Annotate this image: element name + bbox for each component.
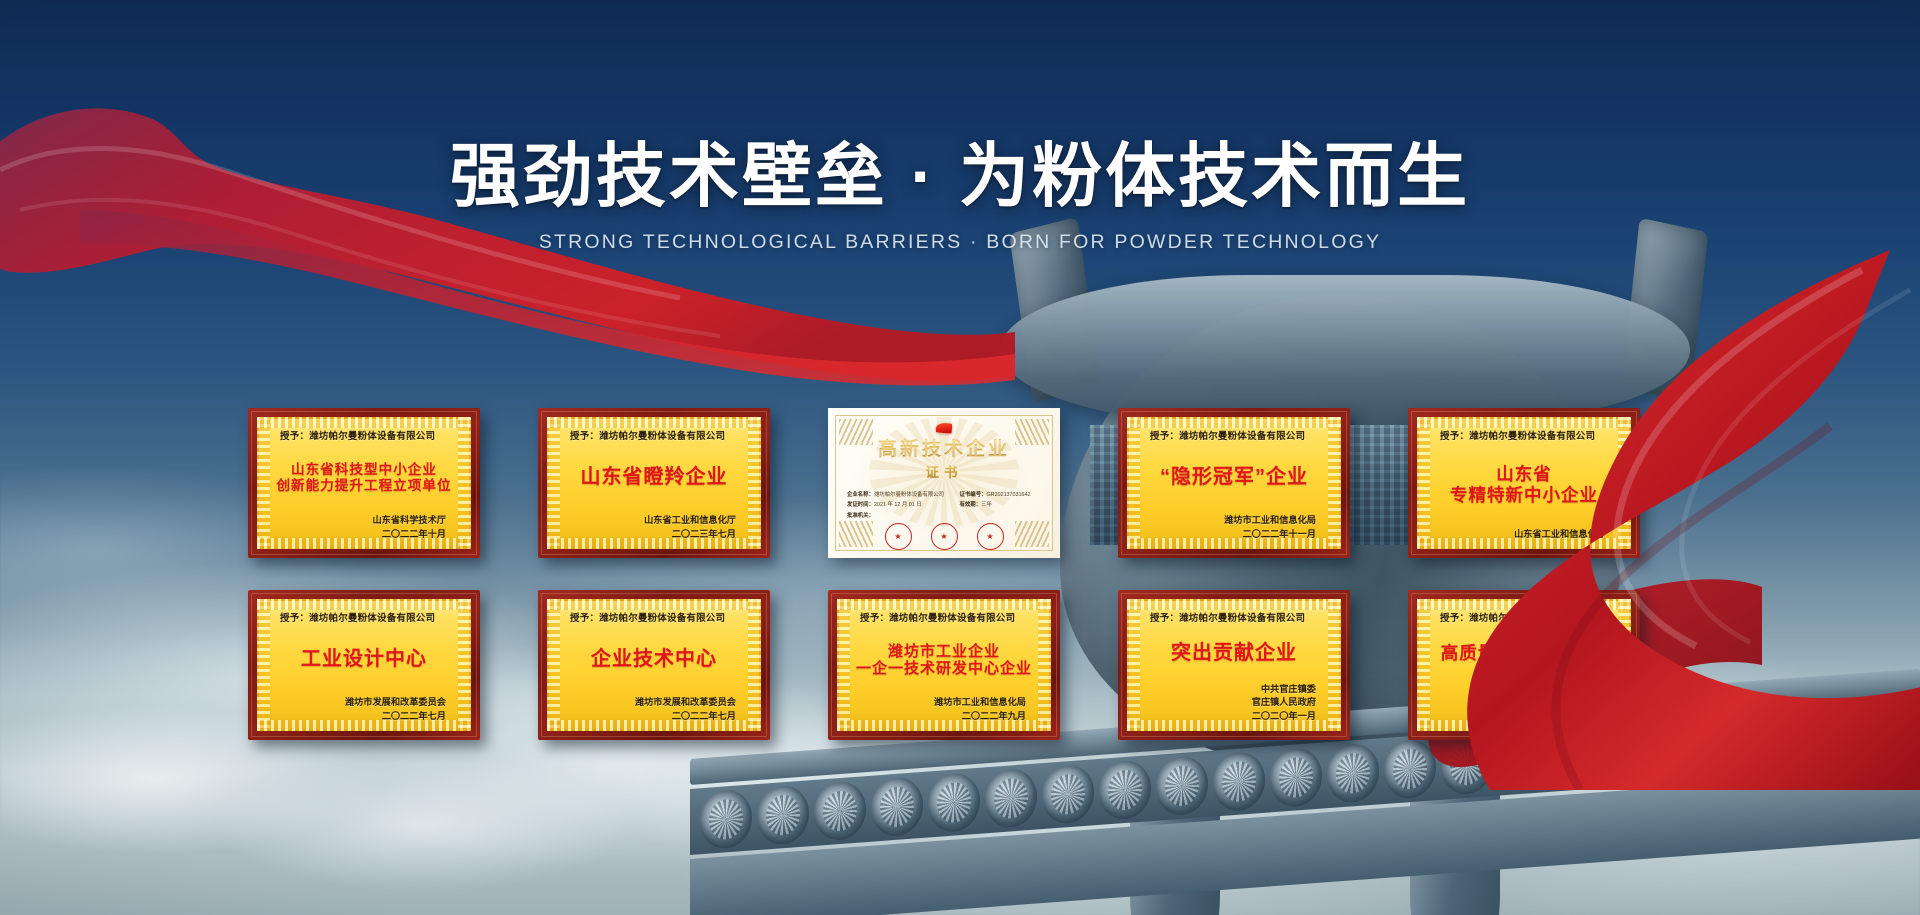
- wheat-corner-icon: [1015, 419, 1049, 445]
- award-plaque[interactable]: 授予：潍坊帕尔曼粉体设备有限公司 企业技术中心 潍坊市发展和改革委员会 二〇二二…: [538, 590, 770, 740]
- award-issuer: 山东省科学技术厅 二〇二二年十月: [268, 514, 460, 542]
- award-title: 山东省瞪羚企业: [558, 442, 750, 514]
- pleat-top: [547, 599, 761, 610]
- award-issuer: 中共官庄镇委 官庄镇人民政府 二〇二〇年一月: [1138, 683, 1330, 724]
- award-cell[interactable]: 授予：潍坊帕尔曼粉体设备有限公司 山东省科技型中小企业 创新能力提升工程立项单位…: [248, 408, 480, 558]
- certificate-title: 高新技术企业: [878, 434, 1010, 461]
- award-title: 高质量发展优秀企业: [1428, 624, 1620, 683]
- plinth-medallion-icon: [871, 776, 923, 838]
- field-value: 2021 年 12 月 01 日: [874, 502, 922, 508]
- field-label: 发证时间：: [847, 502, 874, 508]
- plinth-medallion-icon: [1042, 763, 1094, 825]
- award-plaque[interactable]: 授予：潍坊帕尔曼粉体设备有限公司 山东省 专精特新中小企业 山东省工业和信息化厅: [1408, 408, 1640, 558]
- plinth-medallion-icon: [985, 768, 1037, 830]
- ding-rim: [1000, 275, 1690, 425]
- issuer-date: 二〇二三年七月: [558, 528, 736, 542]
- award-title: 潍坊市工业企业 一企一技术研发中心企业: [848, 624, 1040, 696]
- award-title: 工业设计中心: [268, 624, 460, 696]
- award-issuer: 新安街道党工委 新安街道办事处 二〇二三年二月: [1428, 683, 1620, 724]
- award-cell[interactable]: 授予：潍坊帕尔曼粉体设备有限公司 企业技术中心 潍坊市发展和改革委员会 二〇二二…: [538, 590, 770, 740]
- pleat-top: [1127, 417, 1341, 428]
- page-subtitle: STRONG TECHNOLOGICAL BARRIERS · BORN FOR…: [0, 231, 1920, 254]
- award-recipient: 授予：潍坊帕尔曼粉体设备有限公司: [1440, 610, 1620, 624]
- issuer-line: 潍坊市工业和信息化局: [848, 696, 1026, 710]
- page-title: 强劲技术壁垒 · 为粉体技术而生: [0, 138, 1920, 215]
- award-title-line: 突出贡献企业: [1171, 642, 1297, 666]
- award-title-line: “隐形冠军”企业: [1160, 466, 1308, 490]
- award-cell[interactable]: 授予：潍坊帕尔曼粉体设备有限公司 突出贡献企业 中共官庄镇委 官庄镇人民政府 二…: [1118, 590, 1350, 740]
- award-issuer: 潍坊市工业和信息化局 二〇二二年十一月: [1138, 514, 1330, 542]
- flame-icon: [936, 422, 953, 434]
- award-title-line: 山东省瞪羚企业: [581, 466, 728, 490]
- plinth-medallion-icon: [1327, 742, 1379, 804]
- award-recipient: 授予：潍坊帕尔曼粉体设备有限公司: [1150, 428, 1330, 442]
- plinth-medallion-icon: [1726, 713, 1778, 775]
- award-plaque[interactable]: 授予：潍坊帕尔曼粉体设备有限公司 高质量发展优秀企业 新安街道党工委 新安街道办…: [1408, 590, 1640, 740]
- issuer-date: 二〇二二年十月: [268, 528, 446, 542]
- pleat-top: [257, 599, 471, 610]
- award-plaque[interactable]: 授予：潍坊帕尔曼粉体设备有限公司 潍坊市工业企业 一企一技术研发中心企业 潍坊市…: [828, 590, 1060, 740]
- certificate-subtitle: 证书: [926, 461, 963, 481]
- award-plaque[interactable]: 授予：潍坊帕尔曼粉体设备有限公司 山东省科技型中小企业 创新能力提升工程立项单位…: [248, 408, 480, 558]
- award-recipient: 授予：潍坊帕尔曼粉体设备有限公司: [280, 610, 460, 624]
- plinth-medallion-icon: [1783, 709, 1835, 771]
- award-issuer: 潍坊市发展和改革委员会 二〇二二年七月: [268, 696, 460, 724]
- field-label: 企业名称：: [847, 492, 874, 498]
- issuer-date: 二〇二二年七月: [268, 710, 446, 724]
- issuer-line: 潍坊市发展和改革委员会: [558, 696, 736, 710]
- award-issuer: 山东省工业和信息化厅: [1428, 528, 1620, 542]
- award-recipient: 授予：潍坊帕尔曼粉体设备有限公司: [570, 428, 750, 442]
- plinth-medallion-icon: [1099, 759, 1151, 821]
- award-title-line: 山东省科技型中小企业: [291, 462, 437, 478]
- award-title-line: 企业技术中心: [591, 648, 717, 672]
- issuer-line: 新安街道办事处: [1428, 696, 1606, 710]
- pleat-top: [1417, 599, 1631, 610]
- field-value: GR202137031642: [986, 492, 1030, 498]
- award-cell-certificate[interactable]: 高新技术企业 证书 企业名称：潍坊帕尔曼粉体设备有限公司 证书编号：GR2021…: [828, 408, 1060, 558]
- seal-icon: [885, 523, 912, 550]
- certificate-field: 批准机关：: [847, 511, 960, 521]
- plinth-medallion-icon: [1270, 747, 1322, 809]
- award-recipient: 授予：潍坊帕尔曼粉体设备有限公司: [1150, 610, 1330, 624]
- certificate-field: 证书编号：GR202137031642: [960, 490, 1041, 500]
- award-recipient: 授予：潍坊帕尔曼粉体设备有限公司: [860, 610, 1040, 624]
- pleat-top: [837, 599, 1051, 610]
- award-cell[interactable]: 授予：潍坊帕尔曼粉体设备有限公司 “隐形冠军”企业 潍坊市工业和信息化局 二〇二…: [1118, 408, 1350, 558]
- award-issuer: 山东省工业和信息化厅 二〇二三年七月: [558, 514, 750, 542]
- plaque-gold-face: 授予：潍坊帕尔曼粉体设备有限公司 山东省科技型中小企业 创新能力提升工程立项单位…: [257, 417, 471, 549]
- plinth-medallion-icon: [1213, 751, 1265, 813]
- pleat-top: [257, 417, 471, 428]
- plaque-gold-face: 授予：潍坊帕尔曼粉体设备有限公司 工业设计中心 潍坊市发展和改革委员会 二〇二二…: [257, 599, 471, 731]
- award-cell[interactable]: 授予：潍坊帕尔曼粉体设备有限公司 高质量发展优秀企业 新安街道党工委 新安街道办…: [1408, 590, 1640, 740]
- award-title-line: 高质量发展优秀企业: [1441, 643, 1608, 664]
- certificate-field: 企业名称：潍坊帕尔曼粉体设备有限公司: [847, 490, 960, 500]
- field-label: 批准机关：: [847, 513, 874, 519]
- award-title: 突出贡献企业: [1138, 624, 1330, 683]
- plaque-gold-face: 授予：潍坊帕尔曼粉体设备有限公司 山东省瞪羚企业 山东省工业和信息化厅 二〇二三…: [547, 417, 761, 549]
- seal-icon: [931, 523, 958, 550]
- field-label: 证书编号：: [960, 492, 987, 498]
- plaque-gold-face: 授予：潍坊帕尔曼粉体设备有限公司 “隐形冠军”企业 潍坊市工业和信息化局 二〇二…: [1127, 417, 1341, 549]
- award-title-line: 工业设计中心: [301, 648, 427, 672]
- certificate-field: 有效期：三年: [960, 500, 1041, 510]
- plaque-gold-face: 授予：潍坊帕尔曼粉体设备有限公司 山东省 专精特新中小企业 山东省工业和信息化厅: [1417, 417, 1631, 549]
- issuer-line: 潍坊市工业和信息化局: [1138, 514, 1316, 528]
- award-issuer: 潍坊市工业和信息化局 二〇二二年九月: [848, 696, 1040, 724]
- award-title-line: 创新能力提升工程立项单位: [276, 478, 451, 494]
- issuer-line: 山东省工业和信息化厅: [1428, 528, 1606, 542]
- award-cell[interactable]: 授予：潍坊帕尔曼粉体设备有限公司 潍坊市工业企业 一企一技术研发中心企业 潍坊市…: [828, 590, 1060, 740]
- award-recipient: 授予：潍坊帕尔曼粉体设备有限公司: [280, 428, 460, 442]
- plinth-medallion-icon: [928, 772, 980, 834]
- plinth-medallion-icon: [1156, 755, 1208, 817]
- issuer-line: 新安街道党工委: [1428, 683, 1606, 697]
- award-cell[interactable]: 授予：潍坊帕尔曼粉体设备有限公司 山东省 专精特新中小企业 山东省工业和信息化厅: [1408, 408, 1640, 558]
- plaque-gold-face: 授予：潍坊帕尔曼粉体设备有限公司 企业技术中心 潍坊市发展和改革委员会 二〇二二…: [547, 599, 761, 731]
- award-plaque[interactable]: 授予：潍坊帕尔曼粉体设备有限公司 工业设计中心 潍坊市发展和改革委员会 二〇二二…: [248, 590, 480, 740]
- plinth-medallion-icon: [1384, 738, 1436, 800]
- award-plaque[interactable]: 授予：潍坊帕尔曼粉体设备有限公司 突出贡献企业 中共官庄镇委 官庄镇人民政府 二…: [1118, 590, 1350, 740]
- issuer-line: 山东省工业和信息化厅: [558, 514, 736, 528]
- pleat-top: [547, 417, 761, 428]
- award-title-line: 一企一技术研发中心企业: [856, 660, 1032, 678]
- issuer-line: 山东省科学技术厅: [268, 514, 446, 528]
- award-recipient: 授予：潍坊帕尔曼粉体设备有限公司: [570, 610, 750, 624]
- field-value: 潍坊帕尔曼粉体设备有限公司: [874, 492, 944, 498]
- award-issuer: 潍坊市发展和改革委员会 二〇二二年七月: [558, 696, 750, 724]
- field-value: 三年: [981, 502, 992, 508]
- award-plaque[interactable]: 授予：潍坊帕尔曼粉体设备有限公司 山东省瞪羚企业 山东省工业和信息化厅 二〇二三…: [538, 408, 770, 558]
- plinth-medallion-icon: [700, 788, 752, 850]
- award-plaque[interactable]: 授予：潍坊帕尔曼粉体设备有限公司 “隐形冠军”企业 潍坊市工业和信息化局 二〇二…: [1118, 408, 1350, 558]
- award-recipient: 授予：潍坊帕尔曼粉体设备有限公司: [1440, 428, 1620, 442]
- issuer-date: 二〇二二年十一月: [1138, 528, 1316, 542]
- issuer-date: 二〇二〇年一月: [1138, 710, 1316, 724]
- field-label: 有效期：: [960, 502, 982, 508]
- heading-block: 强劲技术壁垒 · 为粉体技术而生 STRONG TECHNOLOGICAL BA…: [0, 138, 1920, 254]
- issuer-line: 潍坊市发展和改革委员会: [268, 696, 446, 710]
- award-cell[interactable]: 授予：潍坊帕尔曼粉体设备有限公司 山东省瞪羚企业 山东省工业和信息化厅 二〇二三…: [538, 408, 770, 558]
- issuer-date: 二〇二三年二月: [1428, 710, 1606, 724]
- award-grid: 授予：潍坊帕尔曼粉体设备有限公司 山东省科技型中小企业 创新能力提升工程立项单位…: [248, 408, 1688, 740]
- award-cell[interactable]: 授予：潍坊帕尔曼粉体设备有限公司 工业设计中心 潍坊市发展和改革委员会 二〇二二…: [248, 590, 480, 740]
- plaque-gold-face: 授予：潍坊帕尔曼粉体设备有限公司 突出贡献企业 中共官庄镇委 官庄镇人民政府 二…: [1127, 599, 1341, 731]
- award-title-line: 专精特新中小企业: [1450, 485, 1598, 506]
- certificate-inner: 高新技术企业 证书 企业名称：潍坊帕尔曼粉体设备有限公司 证书编号：GR2021…: [835, 415, 1053, 551]
- plinth-medallion-icon: [814, 780, 866, 842]
- award-title: 企业技术中心: [558, 624, 750, 696]
- award-title: 山东省 专精特新中小企业: [1428, 442, 1620, 528]
- pleat-top: [1127, 599, 1341, 610]
- certificate-seals: [836, 523, 1052, 550]
- plaque-gold-face: 授予：潍坊帕尔曼粉体设备有限公司 潍坊市工业企业 一企一技术研发中心企业 潍坊市…: [837, 599, 1051, 731]
- award-title: 山东省科技型中小企业 创新能力提升工程立项单位: [268, 442, 460, 514]
- issuer-line: 官庄镇人民政府: [1138, 696, 1316, 710]
- award-title: “隐形冠军”企业: [1138, 442, 1330, 514]
- plaque-gold-face: 授予：潍坊帕尔曼粉体设备有限公司 高质量发展优秀企业 新安街道党工委 新安街道办…: [1417, 599, 1631, 731]
- pleat-top: [1417, 417, 1631, 428]
- issuer-date: 二〇二二年七月: [558, 710, 736, 724]
- award-title-line: 潍坊市工业企业: [888, 643, 1000, 661]
- certificate-field: 发证时间：2021 年 12 月 01 日: [847, 500, 960, 510]
- wheat-corner-icon: [839, 419, 873, 445]
- plinth-medallion-icon: [1441, 734, 1493, 796]
- issuer-date: 二〇二二年九月: [848, 710, 1026, 724]
- issuer-line: 中共官庄镇委: [1138, 683, 1316, 697]
- seal-icon: [977, 523, 1004, 550]
- banner-stage: 强劲技术壁垒 · 为粉体技术而生 STRONG TECHNOLOGICAL BA…: [0, 0, 1920, 915]
- award-title-line: 山东省: [1496, 464, 1552, 485]
- certificate-fields: 企业名称：潍坊帕尔曼粉体设备有限公司 证书编号：GR202137031642 发…: [836, 485, 1052, 521]
- high-tech-certificate[interactable]: 高新技术企业 证书 企业名称：潍坊帕尔曼粉体设备有限公司 证书编号：GR2021…: [828, 408, 1060, 558]
- plinth-medallion-icon: [757, 784, 809, 846]
